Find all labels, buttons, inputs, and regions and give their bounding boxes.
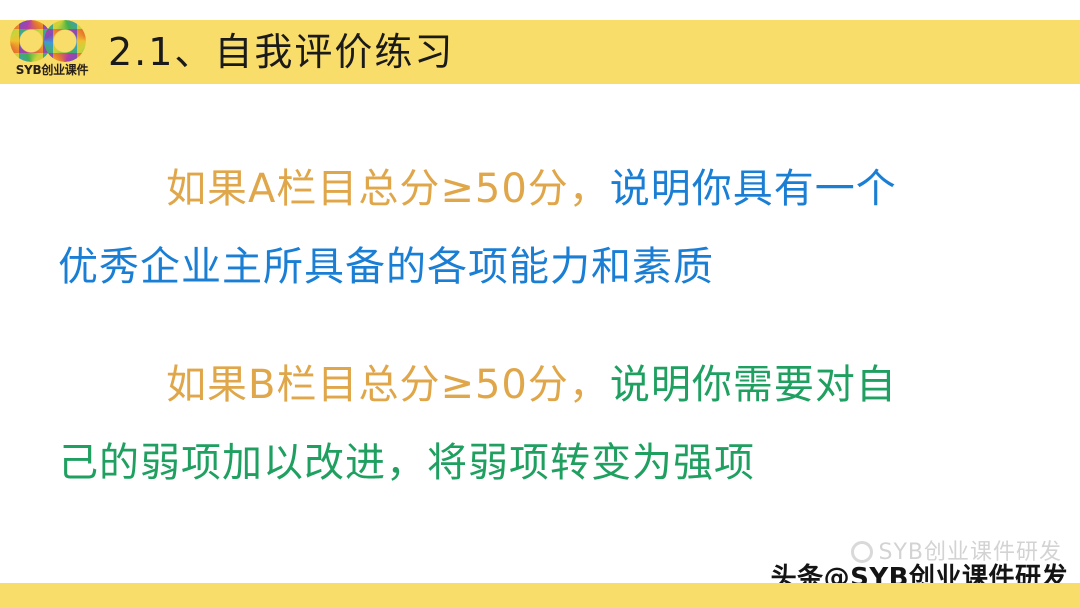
body-text: 如果A栏目总分≥50分，说明你具有一个 优秀企业主所具备的各项能力和素质 如果B… [0, 150, 1080, 502]
paragraph-a: 如果A栏目总分≥50分，说明你具有一个 优秀企业主所具备的各项能力和素质 [58, 150, 1022, 306]
text-line: 己的弱项加以改进，将弱项转变为强项 [58, 424, 1022, 502]
footer-band [0, 583, 1080, 608]
text-segment-result-b-part2: 己的弱项加以改进，将弱项转变为强项 [58, 440, 755, 486]
text-line: 如果A栏目总分≥50分，说明你具有一个 [58, 150, 1022, 228]
logo-caption: SYB创业课件 [6, 61, 98, 78]
text-segment-result-a-part1: 说明你具有一个 [610, 166, 897, 212]
text-segment-result-b-part1: 说明你需要对自 [610, 362, 897, 408]
text-line: 优秀企业主所具备的各项能力和素质 [58, 228, 1022, 306]
text-line: 如果B栏目总分≥50分，说明你需要对自 [58, 346, 1022, 424]
logo-block: SYB创业课件 [6, 16, 98, 88]
slide-canvas: SYB创业课件 2.1、自我评价练习 如果A栏目总分≥50分，说明你具有一个 优… [0, 0, 1080, 608]
text-segment-condition-a: 如果A栏目总分≥50分， [166, 166, 610, 212]
text-segment-result-a-part2: 优秀企业主所具备的各项能力和素质 [58, 244, 714, 290]
page-title: 2.1、自我评价练习 [108, 22, 454, 82]
logo-ring-right-icon [44, 20, 86, 62]
paragraph-b: 如果B栏目总分≥50分，说明你需要对自 己的弱项加以改进，将弱项转变为强项 [58, 346, 1022, 502]
text-segment-condition-b: 如果B栏目总分≥50分， [166, 362, 610, 408]
syb-infinity-rings-logo-icon [10, 18, 94, 64]
